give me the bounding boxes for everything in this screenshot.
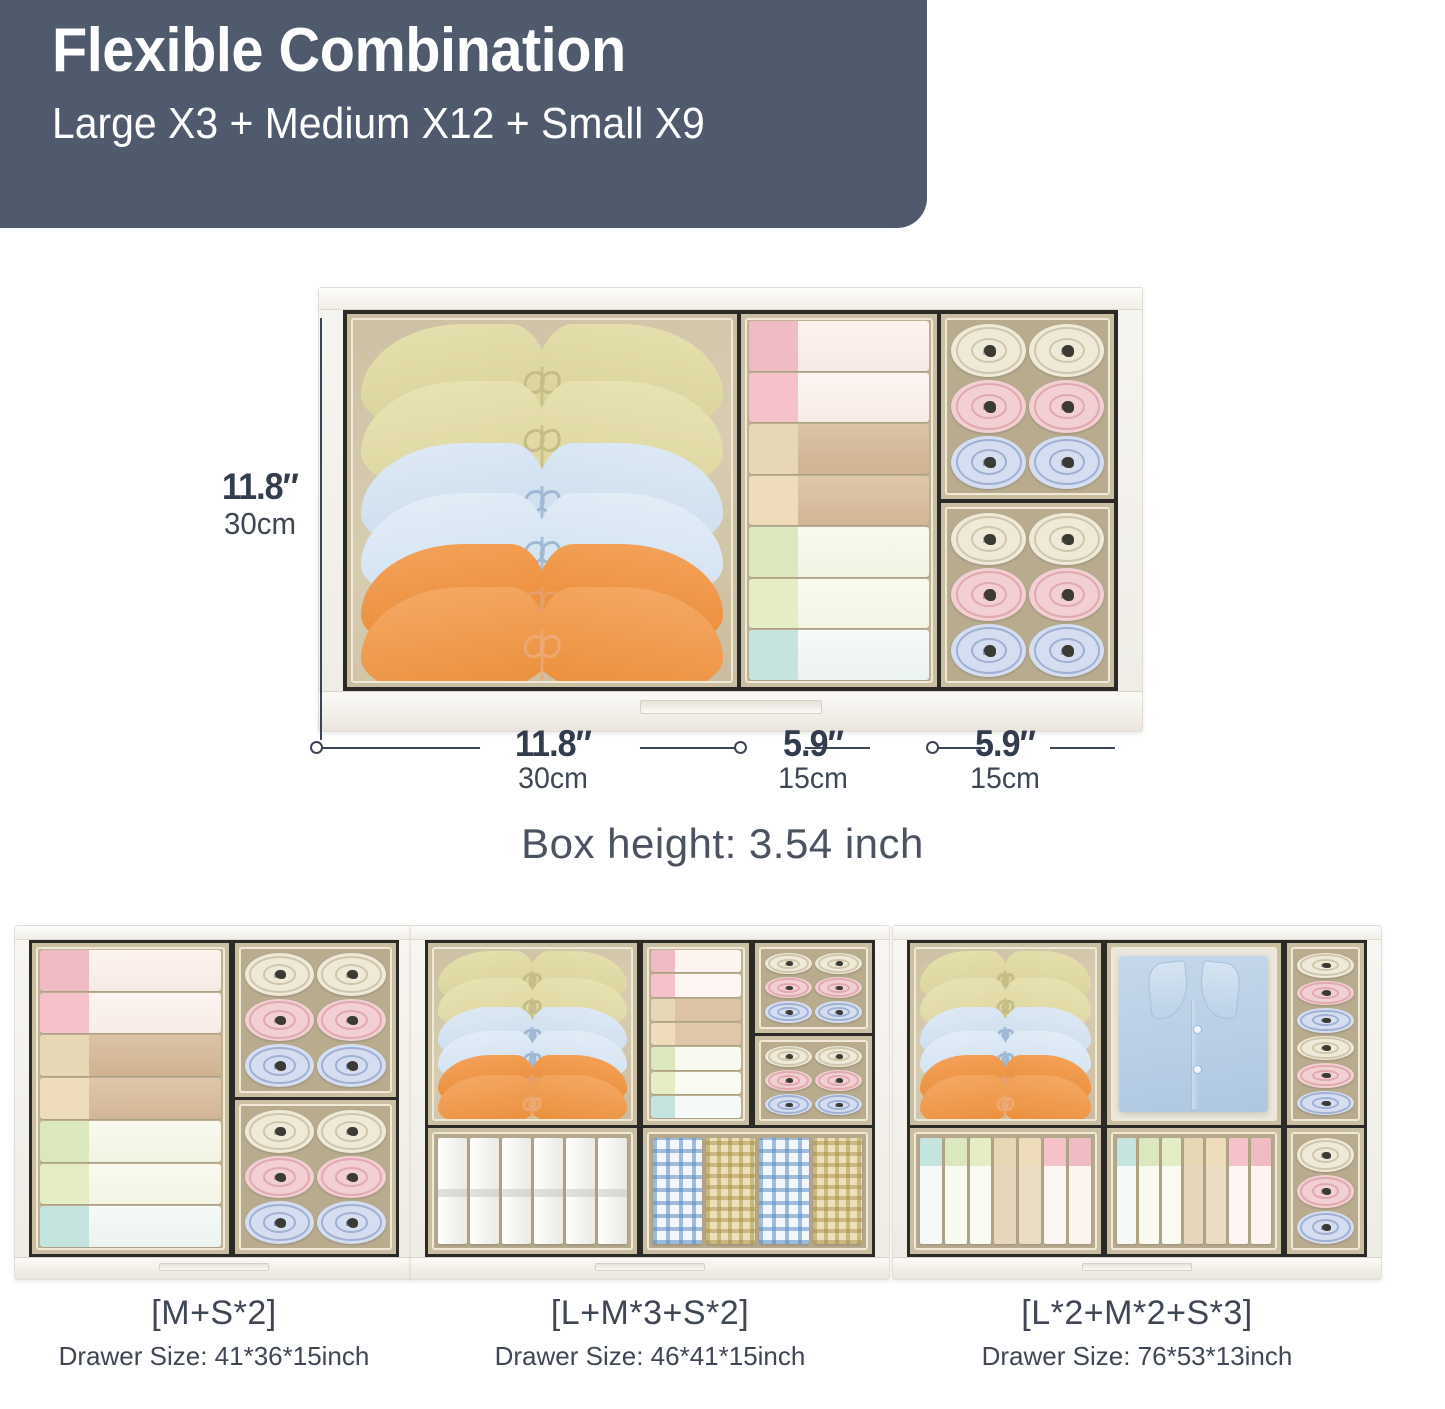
sock-roll [245,1110,314,1153]
dimension-rule [640,747,740,749]
mini-drawer [410,925,890,1280]
sock-roll [1029,513,1104,566]
fold-item [1019,1138,1041,1244]
panel-2-drawer-size: Drawer Size: 46*41*15inch [410,1341,890,1372]
banner-subtitle: Large X3 + Medium X12 + Small X9 [52,101,866,147]
shirt-body [1119,956,1268,1113]
panel-3-drawer-size: Drawer Size: 76*53*13inch [892,1341,1382,1372]
sock-roll [1297,981,1354,1006]
combination-panels: [M+S*2] Drawer Size: 41*36*15inch [0,925,1445,1409]
shirt-placket [1191,1000,1198,1110]
sock-roll [317,953,386,996]
plaid-item [706,1138,755,1244]
plaid-item [759,1138,808,1244]
roll-item [749,476,929,526]
mini-drawer [14,925,414,1280]
sock-roll [815,1001,862,1022]
towel-row [434,1134,631,1248]
sock-roll [1297,1036,1354,1061]
box-liner [239,947,392,1093]
sock-roll [815,977,862,998]
mini-drawer [892,925,1382,1280]
sock-roll [1029,568,1104,621]
mini-drawer-interior [29,940,399,1257]
roll-item [40,1206,221,1247]
panel-2-combination: [L+M*3+S*2] [410,1294,890,1333]
dimension-label-2: 5.9″ 15cm [738,725,888,797]
compartment-large-bra [910,943,1101,1125]
box-liner [239,1104,392,1250]
sock-roll [815,953,862,974]
fold-item [920,1138,942,1244]
drawer-interior [343,310,1118,691]
sock-grid [761,949,866,1027]
sock-roll [951,324,1026,377]
roll-item [749,527,929,577]
roll-item [40,993,221,1034]
bra-stack [353,320,731,681]
dimension-2-inch: 5.9″ [744,725,882,762]
bra-item [438,1075,627,1121]
sock-roll [765,953,812,974]
fold-item [1069,1138,1091,1244]
sock-roll [815,1070,862,1091]
sock-roll [1297,1211,1354,1244]
mini-drawer-handle[interactable] [595,1263,705,1271]
sock-roll [245,953,314,996]
panel-2-image [410,925,890,1280]
box-liner [1111,1132,1277,1250]
sock-grid [761,1042,866,1120]
sock-roll [245,1044,314,1087]
sock-roll [951,436,1026,489]
box-liner [647,1132,868,1250]
mini-drawer-front [15,1257,413,1279]
compartment-medium-rolls [643,943,750,1125]
mini-drawer-interior [425,940,875,1257]
compartment-large-shirt [1107,943,1281,1125]
compartment-large-bra [347,314,737,687]
sock-roll [951,380,1026,433]
sock-roll [317,999,386,1042]
vertical-dimension-label: 11.8″ 30cm [208,466,312,542]
drawer-top-rim [319,288,1142,310]
compartment-small-bottom [941,503,1114,688]
dimension-rule [320,747,480,749]
compartment-small-top [755,943,872,1033]
roll-item [651,1096,742,1118]
vertical-fold-row [916,1134,1095,1248]
sock-roll [951,624,1026,677]
compartment-medium-folds-2 [1107,1128,1281,1254]
bra-stack [434,949,631,1119]
sock-roll [1297,1138,1354,1171]
box-liner [432,947,633,1121]
sock-roll [815,1046,862,1067]
sock-roll [317,1110,386,1153]
sock-roll [245,999,314,1042]
fold-item [994,1138,1016,1244]
box-liner [745,318,933,683]
compartment-small-bottom [235,1100,396,1254]
fold-item [1229,1138,1248,1244]
dimension-1-inch: 11.8″ [484,725,622,762]
drawer-handle[interactable] [640,700,822,714]
sock-grid [1293,949,1358,1119]
compartment-small-bottom [755,1036,872,1126]
box-liner [1291,947,1360,1121]
roll-item [749,424,929,474]
roll-stack [649,949,744,1119]
fold-item [970,1138,992,1244]
fold-item [1117,1138,1136,1244]
mini-drawer-handle[interactable] [159,1263,269,1271]
sock-roll [317,1156,386,1199]
plaid-item [813,1138,862,1244]
compartment-medium-rolls [32,943,229,1254]
shirt-button [1193,1065,1202,1074]
banner-title: Flexible Combination [52,18,866,83]
fold-item [1184,1138,1203,1244]
roll-item [749,373,929,423]
fold-item [1251,1138,1270,1244]
roll-item [651,1072,742,1094]
dimension-label-3: 5.9″ 15cm [930,725,1080,797]
fold-item [1206,1138,1225,1244]
compartment-small-group [755,943,872,1125]
compartment-large-bra [428,943,637,1125]
fold-item [1139,1138,1158,1244]
dimension-3-inch: 5.9″ [936,725,1074,762]
dimension-endpoint-left [310,741,323,754]
mini-drawer-front [411,1257,889,1279]
bra-item [920,1075,1092,1121]
compartment-plaids [643,1128,872,1254]
box-liner [1111,947,1277,1121]
compartment-medium-rolls [741,314,937,687]
header-banner: Flexible Combination Large X3 + Medium X… [0,0,927,228]
sock-roll [245,1156,314,1199]
sock-roll [1029,436,1104,489]
box-liner [914,1132,1097,1250]
plaid-item [653,1138,702,1244]
sock-roll [951,568,1026,621]
panel-2[interactable]: [L+M*3+S*2] Drawer Size: 46*41*15inch [410,925,890,1372]
vertical-fold-row [1113,1134,1275,1248]
box-liner [759,947,868,1029]
box-height-note: Box height: 3.54 inch [0,820,1445,868]
box-liner [647,947,746,1121]
sock-roll [1029,380,1104,433]
towel-roll [502,1138,531,1244]
panel-1[interactable]: [M+S*2] Drawer Size: 41*36*15inch [14,925,414,1372]
panel-3-image [892,925,1382,1280]
sock-roll [765,1094,812,1115]
bra-item [361,587,724,683]
panel-1-combination: [M+S*2] [14,1294,414,1333]
bra-stack [916,949,1095,1119]
panel-1-drawer-size: Drawer Size: 41*36*15inch [14,1341,414,1372]
fold-item [1162,1138,1181,1244]
sock-grid [947,509,1108,682]
roll-item [40,1121,221,1162]
roll-item [40,1164,221,1205]
sock-grid [241,949,390,1091]
box-liner [1291,1132,1360,1250]
towel-roll [470,1138,499,1244]
sock-roll [1297,1091,1354,1116]
roll-item [40,1078,221,1119]
box-liner [945,507,1110,684]
vertical-dimension-cm: 30cm [211,506,310,542]
roll-item [749,321,929,371]
box-liner [914,947,1097,1121]
shirt-button [1193,1025,1202,1034]
box-liner [351,318,733,683]
sock-roll [1297,1008,1354,1033]
sock-roll [317,1201,386,1244]
dimension-2-cm: 15cm [742,762,885,797]
sock-roll [245,1201,314,1244]
mini-drawer-rim [893,926,1381,940]
sock-roll [1029,324,1104,377]
compartment-towels [428,1128,637,1254]
vertical-dimension-line [320,318,322,740]
box-liner [759,1040,868,1122]
sock-roll [765,1046,812,1067]
panel-1-image [14,925,414,1280]
compartment-small-group [941,314,1114,687]
sock-roll [815,1094,862,1115]
panel-3-combination: [L*2+M*2+S*3] [892,1294,1382,1333]
box-liner [432,1132,633,1250]
compartment-small-group [235,943,396,1254]
drawer-body [318,287,1143,732]
roll-item [40,1035,221,1076]
compartment-small-top [941,314,1114,499]
shirt-collar-left [1146,960,1190,1020]
sock-roll [317,1044,386,1087]
roll-item [749,579,929,629]
compartment-small-tall-2 [1287,1128,1364,1254]
sock-roll [1029,624,1104,677]
towel-roll [566,1138,595,1244]
sock-roll [951,513,1026,566]
sock-roll [1297,953,1354,978]
fold-item [945,1138,967,1244]
sock-grid [241,1106,390,1248]
sock-grid [947,320,1108,493]
mini-drawer-interior [907,940,1367,1257]
compartment-medium-folds-1 [910,1128,1101,1254]
dimension-1-cm: 30cm [482,762,625,797]
compartment-small-tall [1287,943,1364,1125]
dimension-label-1: 11.8″ 30cm [478,725,628,797]
fold-item [1044,1138,1066,1244]
towel-roll [438,1138,467,1244]
panel-3[interactable]: [L*2+M*2+S*3] Drawer Size: 76*53*13inch [892,925,1382,1372]
vertical-dimension-inch: 11.8″ [212,466,308,508]
sock-roll [1297,1175,1354,1208]
roll-stack [38,949,223,1248]
roll-item [749,630,929,680]
sock-roll [765,1070,812,1091]
roll-stack [747,320,931,681]
hero-drawer-image [318,287,1143,732]
sock-roll [765,1001,812,1022]
compartment-small-top [235,943,396,1097]
mini-drawer-rim [15,926,413,940]
towel-roll [598,1138,627,1244]
box-liner [36,947,225,1250]
roll-item [651,1047,742,1069]
roll-item [651,950,742,972]
mini-drawer-front [893,1257,1381,1279]
plaid-row [649,1134,866,1248]
sock-roll [1297,1063,1354,1088]
mini-drawer-handle[interactable] [1082,1263,1192,1271]
horizontal-dimension-group: 11.8″ 30cm 5.9″ 15cm 5.9″ 15cm [310,735,1120,805]
roll-item [651,1023,742,1045]
sock-grid [1293,1134,1358,1248]
mini-drawer-rim [411,926,889,940]
roll-item [651,974,742,996]
roll-item [40,950,221,991]
towel-roll [534,1138,563,1244]
infographic-root: Flexible Combination Large X3 + Medium X… [0,0,1445,1409]
box-liner [945,318,1110,495]
roll-item [651,999,742,1021]
dimension-3-cm: 15cm [934,762,1077,797]
shirt-collar-right [1197,960,1241,1020]
sock-roll [765,977,812,998]
folded-shirt [1113,949,1275,1119]
